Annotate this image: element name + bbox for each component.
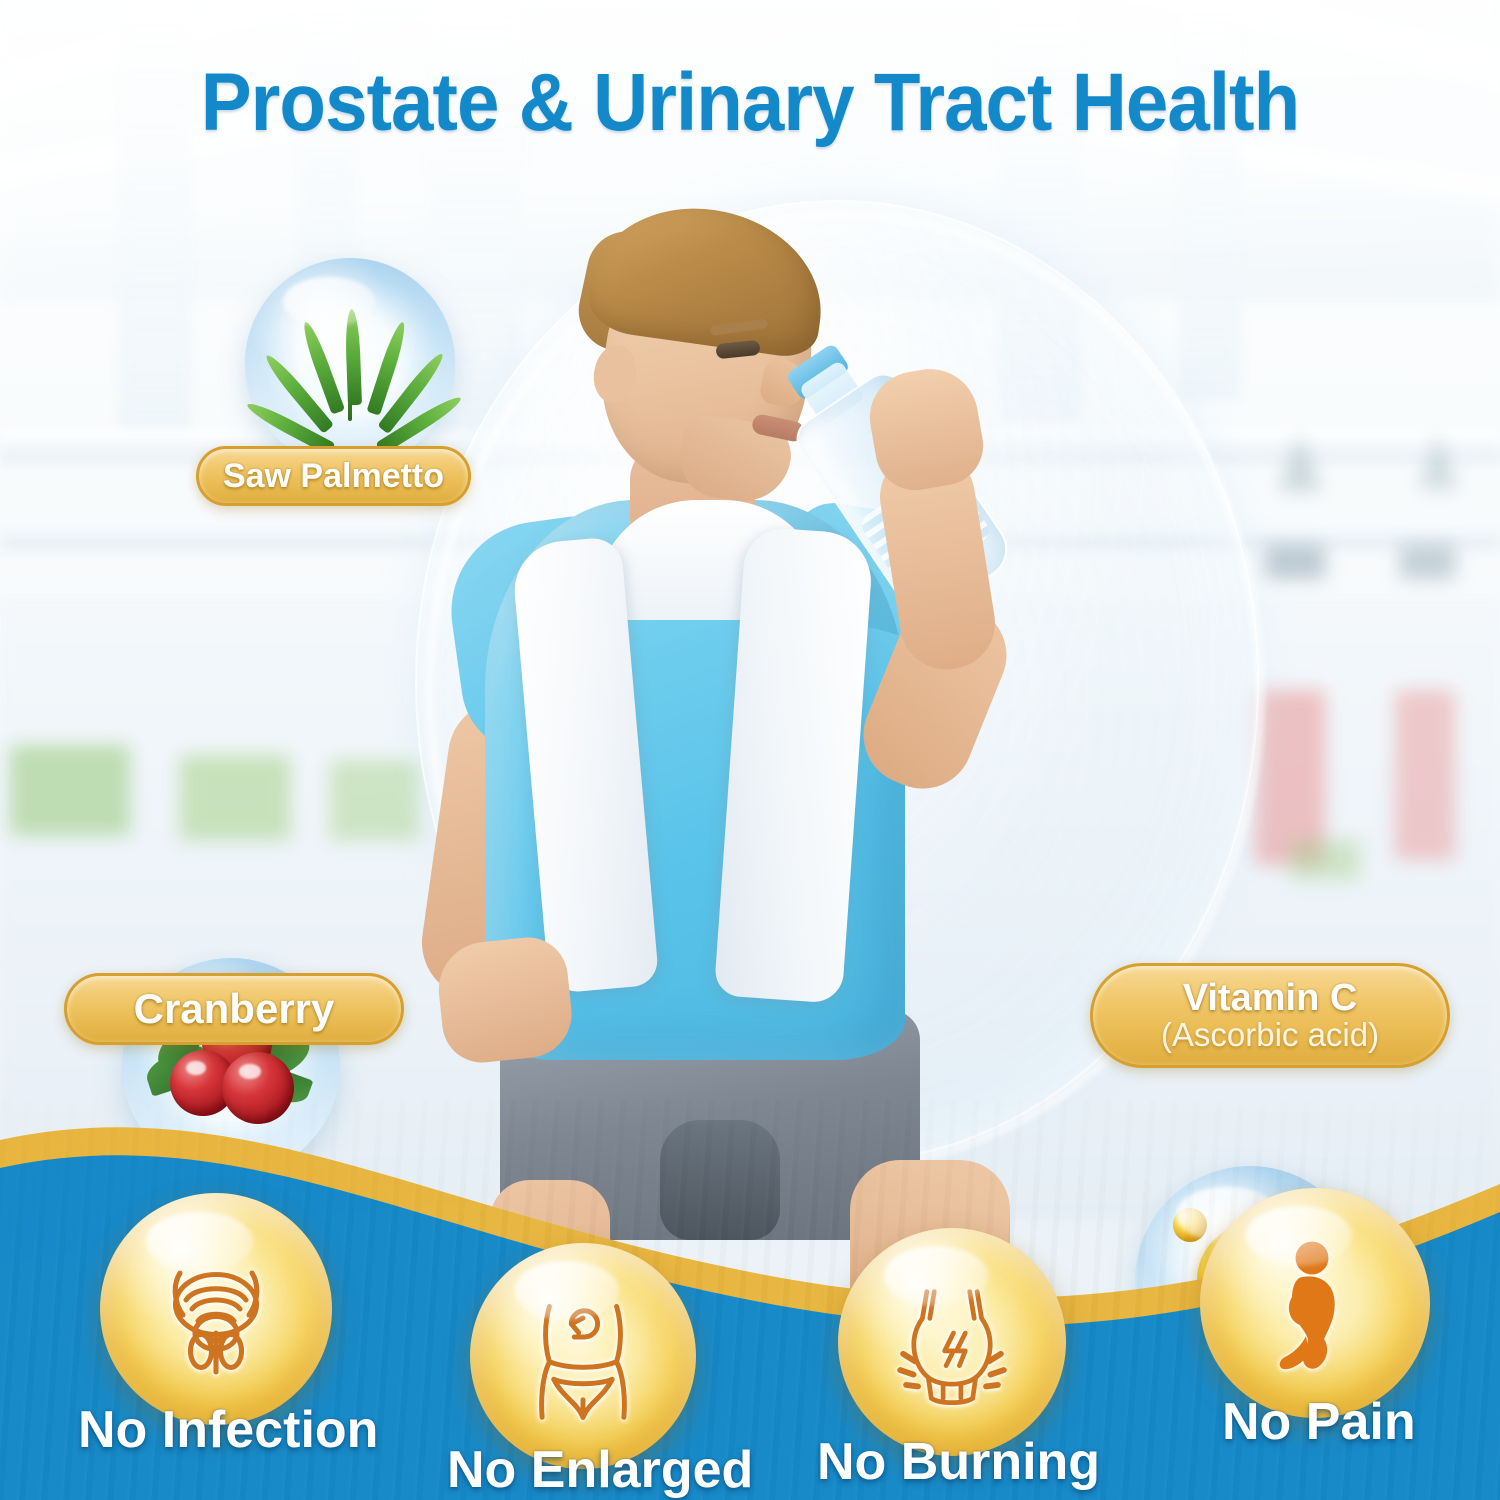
background-shape — [1418, 435, 1458, 489]
ingredient-label-cranberry[interactable]: Cranberry — [64, 973, 404, 1045]
background-shape — [1395, 690, 1455, 860]
bladder-burning-icon — [838, 1228, 1066, 1456]
background-shape — [1255, 690, 1325, 865]
ingredient-sublabel-text: (Ascorbic acid) — [1161, 1018, 1379, 1052]
hero-man-drinking-water — [380, 170, 1100, 1230]
background-shape — [1278, 435, 1322, 491]
ingredient-label-text: Saw Palmetto — [223, 459, 444, 494]
benefit-capsule-no-pain[interactable] — [1200, 1188, 1430, 1418]
background-shape — [180, 755, 290, 840]
benefit-capsule-no-burning[interactable] — [838, 1228, 1066, 1456]
background-shape — [1290, 840, 1360, 880]
benefit-capsule-no-enlarged[interactable] — [470, 1243, 696, 1469]
ingredient-bubble-saw-palmetto — [245, 258, 455, 468]
ingredient-label-saw-palmetto[interactable]: Saw Palmetto — [196, 446, 471, 506]
prostate-icon — [100, 1193, 332, 1425]
person-clutching-icon — [1200, 1188, 1430, 1418]
background-shape — [10, 745, 130, 835]
ingredient-label-vitamin-c[interactable]: Vitamin C (Ascorbic acid) — [1090, 963, 1450, 1068]
page-title: Prostate & Urinary Tract Health — [53, 56, 1448, 150]
body-torso-icon — [470, 1243, 696, 1469]
palm-leaf-icon — [245, 258, 455, 468]
benefit-label-no-pain: No Pain — [1222, 1392, 1416, 1452]
background-shape — [1265, 545, 1325, 579]
benefit-label-no-burning: No Burning — [817, 1432, 1100, 1492]
benefit-label-no-enlarged: No Enlarged — [447, 1440, 753, 1500]
hero-left-hand — [434, 934, 576, 1067]
benefit-capsule-no-infection[interactable] — [100, 1193, 332, 1425]
ingredient-label-text: Vitamin C — [1183, 979, 1358, 1018]
benefit-label-no-infection: No Infection — [78, 1400, 378, 1460]
ingredient-label-text: Cranberry — [134, 988, 335, 1031]
background-shape — [1400, 545, 1455, 579]
product-infographic: Saw Palmetto Cranberry C Vitamin C (Asco… — [0, 0, 1500, 1500]
